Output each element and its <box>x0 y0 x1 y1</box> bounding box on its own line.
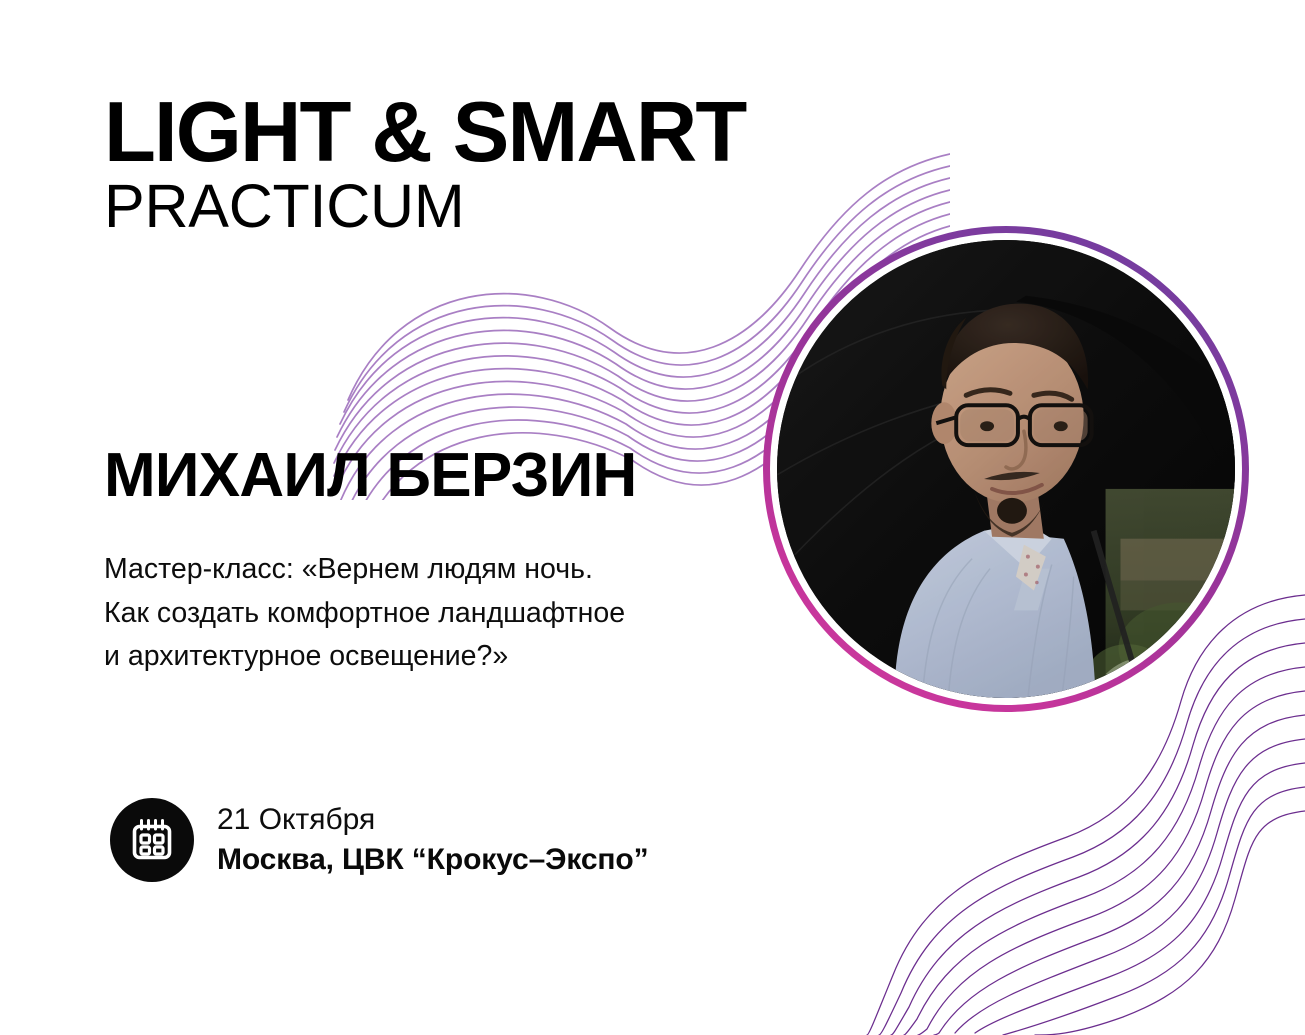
event-date: 21 Октября <box>217 801 649 839</box>
description-line: и архитектурное освещение?» <box>104 635 804 679</box>
page-subtitle: PRACTICUM <box>104 175 745 237</box>
event-info-block: 21 Октября Москва, ЦВК “Крокус–Экспо” <box>110 798 649 882</box>
event-venue: Москва, ЦВК “Крокус–Экспо” <box>217 841 649 879</box>
calendar-icon <box>110 798 194 882</box>
speaker-portrait-ring <box>763 226 1249 712</box>
speaker-name: МИХАИЛ БЕРЗИН <box>104 440 637 511</box>
poster-canvas: LIGHT & SMART PRACTICUM МИХАИЛ БЕРЗИН Ма… <box>0 0 1305 1035</box>
event-info-text: 21 Октября Москва, ЦВК “Крокус–Экспо” <box>217 801 649 880</box>
page-title: LIGHT & SMART <box>104 96 745 171</box>
portrait-inner-gap <box>770 233 1242 705</box>
description-line: Мастер-класс: «Вернем людям ночь. <box>104 548 804 592</box>
speaker-photo <box>777 240 1235 698</box>
description-line: Как создать комфортное ландшафтное <box>104 592 804 636</box>
speaker-description: Мастер-класс: «Вернем людям ночь. Как со… <box>104 548 804 679</box>
headline-block: LIGHT & SMART PRACTICUM <box>104 96 745 237</box>
